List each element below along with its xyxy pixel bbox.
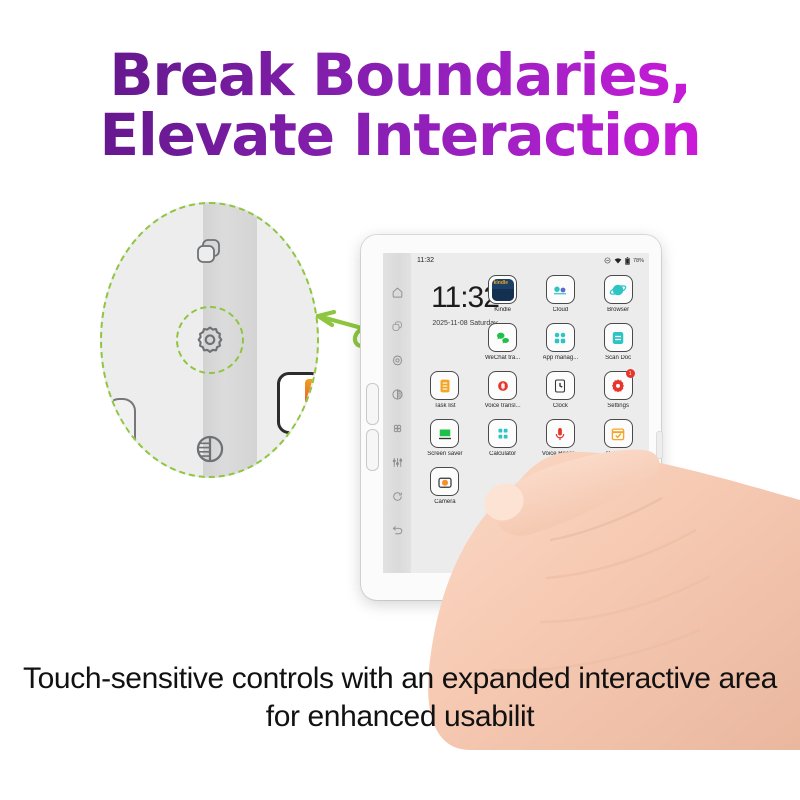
app-icon — [488, 371, 517, 400]
app-icon — [488, 323, 517, 352]
app-voice-recor[interactable]: Voice Recor... — [533, 419, 589, 467]
device-screen: 11:32 78% — [383, 253, 649, 573]
app-switcher-icon[interactable] — [193, 236, 227, 270]
notification-badge: 1 — [626, 369, 635, 378]
app-icon — [546, 275, 575, 304]
app-calculator[interactable]: Calculator — [475, 419, 531, 467]
camera-icon — [436, 473, 454, 491]
app-icon — [604, 467, 633, 496]
app-scan-doc[interactable]: Scan Doc — [590, 323, 646, 371]
battery-percent: 78% — [633, 258, 644, 264]
battery-icon — [625, 257, 630, 265]
app-label: Voice transl... — [485, 403, 521, 409]
tablet-device: 11:32 78% — [361, 235, 661, 600]
gear-highlight-ring — [176, 306, 244, 374]
calendar-icon — [609, 425, 627, 443]
app-camera[interactable]: Camera — [417, 467, 473, 515]
app-icon: 1 — [604, 371, 633, 400]
app-cloud[interactable]: Cloud — [533, 275, 589, 323]
device-button-down[interactable] — [366, 429, 379, 471]
browser-icon — [609, 281, 627, 299]
app-app-manag[interactable]: App manag... — [533, 323, 589, 371]
app-clock[interactable]: Clock — [533, 371, 589, 419]
app-icon — [604, 275, 633, 304]
caption-text: Touch-sensitive controls with an expande… — [20, 660, 780, 737]
app-kindle[interactable]: kindleKindle — [475, 275, 531, 323]
screen-saver-icon — [436, 425, 454, 443]
kindle-icon: kindle — [492, 279, 514, 301]
back-arrow-icon — [391, 524, 404, 537]
app-voice-transl[interactable]: Voice transl... — [475, 371, 531, 419]
screen-content: 11:32 78% — [411, 253, 649, 573]
sidebar-item-app-switcher[interactable] — [384, 309, 410, 343]
settings-gear-icon — [391, 354, 404, 367]
app-label: Cloud — [553, 307, 569, 313]
app-icon — [430, 371, 459, 400]
grid-dots-icon — [391, 422, 404, 435]
app-switcher-icon — [391, 320, 404, 333]
page-title: Break Boundaries, Elevate Interaction — [0, 46, 800, 165]
device-button-up[interactable] — [366, 383, 379, 425]
contrast-icon[interactable] — [193, 432, 227, 466]
device-side-nub — [656, 431, 663, 459]
app-label: Task list — [434, 403, 455, 409]
version-label: 4.0 — [635, 533, 643, 539]
app-icon: kindle — [488, 275, 517, 304]
app-label: Scan Doc — [605, 355, 631, 361]
home-icon — [391, 286, 404, 299]
status-time: 11:32 — [417, 257, 434, 264]
cloud-icon — [551, 281, 569, 299]
screen-sidebar — [383, 253, 411, 573]
app-label: App manag... — [543, 355, 579, 361]
contrast-icon — [391, 388, 404, 401]
app-settings[interactable]: 1Settings — [590, 371, 646, 419]
app-browser[interactable]: Browser — [590, 275, 646, 323]
app-manager-icon — [551, 329, 569, 347]
sidebar-item-grid[interactable] — [384, 411, 410, 445]
sidebar-item-contrast[interactable] — [384, 377, 410, 411]
wechat-translate-icon — [494, 329, 512, 347]
app-label: WeChat tra... — [485, 355, 520, 361]
app-label: Calculator — [489, 451, 516, 457]
sidebar-item-settings[interactable] — [384, 343, 410, 377]
sidebar-item-back[interactable] — [384, 513, 410, 547]
app-icon — [604, 419, 633, 448]
refresh-icon — [391, 490, 404, 503]
task-list-icon — [436, 377, 454, 395]
app-icon — [604, 323, 633, 352]
do-not-disturb-icon — [604, 257, 611, 264]
app-label: Calendar — [606, 451, 630, 457]
app-label: Camera — [434, 499, 455, 505]
sliders-icon — [391, 456, 404, 469]
voice-recorder-icon — [551, 425, 569, 443]
app-icon — [430, 467, 459, 496]
app-task-list[interactable]: Task list — [417, 371, 473, 419]
app-label: Settings — [607, 403, 629, 409]
scan-doc-icon — [609, 329, 627, 347]
app-grid: kindleKindleCloudBrowserWeChat tra...App… — [417, 271, 646, 573]
magnified-device-button — [106, 398, 136, 458]
alert-icon — [609, 473, 627, 491]
app-icon — [488, 419, 517, 448]
status-indicators: 78% — [604, 257, 644, 265]
app-wechat-tra[interactable]: WeChat tra... — [475, 323, 531, 371]
app-icon — [546, 323, 575, 352]
magnified-device-edge — [277, 372, 319, 434]
clock-icon — [551, 377, 569, 395]
status-bar: 11:32 78% — [411, 253, 649, 268]
magnifier-callout — [100, 202, 319, 478]
app-calendar[interactable]: Calendar — [590, 419, 646, 467]
app-label: Kindle — [494, 307, 511, 313]
calculator-icon — [494, 425, 512, 443]
app-label: Clock — [553, 403, 568, 409]
app-icon — [546, 371, 575, 400]
sidebar-item-home[interactable] — [384, 275, 410, 309]
app-slot-empty[interactable] — [590, 467, 646, 515]
wifi-icon — [614, 257, 622, 264]
sidebar-item-sliders[interactable] — [384, 445, 410, 479]
app-label: Browser — [607, 307, 629, 313]
app-screen-saver[interactable]: Screen saver — [417, 419, 473, 467]
app-label: Screen saver — [427, 451, 462, 457]
settings-gear-icon — [609, 377, 627, 395]
app-icon — [546, 419, 575, 448]
app-icon — [430, 419, 459, 448]
poster-canvas: Break Boundaries, Elevate Interaction — [0, 0, 800, 800]
sidebar-item-refresh[interactable] — [384, 479, 410, 513]
app-label: Voice Recor... — [542, 451, 579, 457]
voice-translate-icon — [494, 377, 512, 395]
